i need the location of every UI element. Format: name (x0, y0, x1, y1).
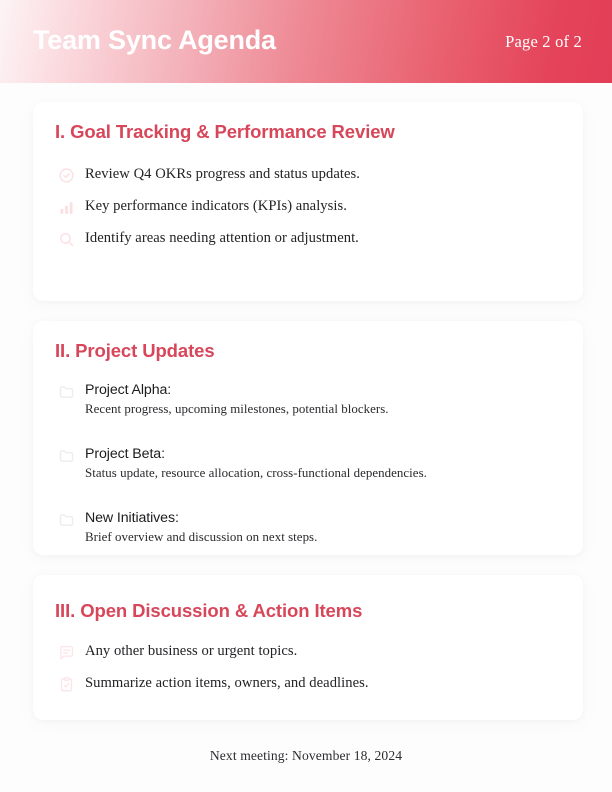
check-circle-icon (55, 164, 77, 186)
list-item: Project Alpha: Recent progress, upcoming… (55, 381, 565, 418)
list-item-label: Identify areas needing attention or adju… (85, 229, 359, 247)
list-item-label: Summarize action items, owners, and dead… (85, 674, 369, 692)
section-heading-goal-tracking: I. Goal Tracking & Performance Review (55, 121, 395, 143)
list-item: Review Q4 OKRs progress and status updat… (55, 165, 565, 186)
list-item: New Initiatives: Brief overview and disc… (55, 509, 565, 546)
footer-next-meeting: Next meeting: November 18, 2024 (0, 748, 612, 764)
list-item-label: Any other business or urgent topics. (85, 642, 297, 660)
project-name: Project Beta: (85, 445, 427, 463)
folder-icon (55, 380, 77, 402)
section-heading-open-discussion: III. Open Discussion & Action Items (55, 600, 362, 622)
page-header: Team Sync Agenda Page 2 of 2 (0, 0, 612, 83)
bar-chart-icon (55, 196, 77, 218)
project-description: Recent progress, upcoming milestones, po… (85, 401, 389, 418)
list-item: Project Beta: Status update, resource al… (55, 445, 565, 482)
clipboard-check-icon (55, 673, 77, 695)
search-icon (55, 228, 77, 250)
folder-icon (55, 508, 77, 530)
project-name: New Initiatives: (85, 509, 317, 527)
project-description: Status update, resource allocation, cros… (85, 465, 427, 482)
section-heading-project-updates: II. Project Updates (55, 340, 215, 362)
agenda-page: Team Sync Agenda Page 2 of 2 I. Goal Tra… (0, 0, 612, 792)
list-item: Any other business or urgent topics. (55, 642, 565, 663)
message-square-icon (55, 641, 77, 663)
project-description: Brief overview and discussion on next st… (85, 529, 317, 546)
list-item: Key performance indicators (KPIs) analys… (55, 197, 565, 218)
project-name: Project Alpha: (85, 381, 389, 399)
list-item-label: Key performance indicators (KPIs) analys… (85, 197, 347, 215)
page-title: Team Sync Agenda (33, 27, 276, 56)
section-card-goal-tracking: I. Goal Tracking & Performance Review Re… (33, 102, 583, 301)
list-item: Summarize action items, owners, and dead… (55, 674, 565, 695)
folder-icon (55, 444, 77, 466)
page-indicator: Page 2 of 2 (505, 32, 582, 52)
list-item: Identify areas needing attention or adju… (55, 229, 565, 250)
section-card-open-discussion: III. Open Discussion & Action Items Any … (33, 575, 583, 720)
section-card-project-updates: II. Project Updates Project Alpha: Recen… (33, 321, 583, 555)
list-item-label: Review Q4 OKRs progress and status updat… (85, 165, 360, 183)
